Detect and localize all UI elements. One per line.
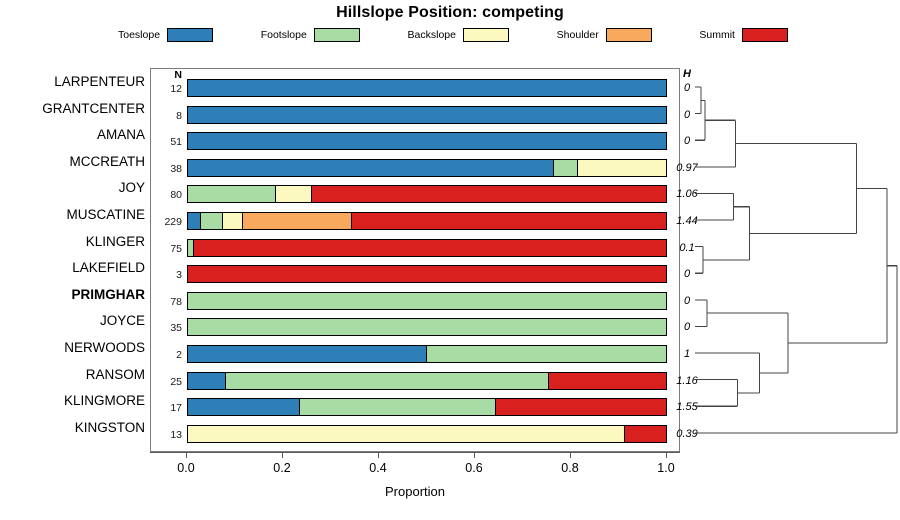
x-axis-tick bbox=[666, 452, 667, 458]
y-axis-label: MUSCATINE bbox=[5, 207, 145, 222]
legend-item[interactable]: Toeslope bbox=[118, 28, 213, 42]
y-axis-labels: LARPENTEURGRANTCENTERAMANAMCCREATHJOYMUS… bbox=[0, 68, 145, 452]
bar-row[interactable] bbox=[187, 185, 667, 203]
bar-row[interactable] bbox=[187, 318, 667, 336]
x-axis-tick-label: 1.0 bbox=[646, 461, 686, 475]
bar-segment-footslope[interactable] bbox=[188, 293, 666, 309]
bar-row[interactable] bbox=[187, 159, 667, 177]
y-axis-label: JOY bbox=[5, 180, 145, 195]
bar-segment-summit[interactable] bbox=[194, 240, 666, 256]
bar-segment-footslope[interactable] bbox=[226, 373, 549, 389]
bar-segment-summit[interactable] bbox=[625, 426, 666, 442]
y-axis-label: GRANTCENTER bbox=[5, 101, 145, 116]
bar-segment-shoulder[interactable] bbox=[243, 213, 352, 229]
chart-title: Hillslope Position: competing bbox=[0, 4, 900, 22]
n-value: 13 bbox=[151, 429, 182, 441]
n-value: 8 bbox=[151, 110, 182, 122]
bar-row[interactable] bbox=[187, 106, 667, 124]
legend-item-label: Footslope bbox=[261, 29, 307, 41]
bar-segment-footslope[interactable] bbox=[188, 186, 276, 202]
x-axis-tick-label: 0.8 bbox=[550, 461, 590, 475]
bars-layer bbox=[187, 69, 667, 451]
bar-row[interactable] bbox=[187, 345, 667, 363]
bar-row[interactable] bbox=[187, 212, 667, 230]
y-axis-label: PRIMGHAR bbox=[5, 287, 145, 302]
stacked-bar[interactable] bbox=[187, 345, 667, 363]
n-value: 78 bbox=[151, 296, 182, 308]
legend-item-label: Summit bbox=[699, 29, 735, 41]
y-axis-label: KINGSTON bbox=[5, 420, 145, 435]
bar-segment-backslope[interactable] bbox=[276, 186, 312, 202]
y-axis-label: RANSOM bbox=[5, 367, 145, 382]
bar-segment-footslope[interactable] bbox=[554, 160, 578, 176]
x-axis-tick bbox=[570, 452, 571, 458]
n-value: 25 bbox=[151, 376, 182, 388]
x-axis-tick-label: 0.6 bbox=[454, 461, 494, 475]
bar-segment-toeslope[interactable] bbox=[188, 107, 666, 123]
bar-row[interactable] bbox=[187, 292, 667, 310]
chart-root: Hillslope Position: competing ToeslopeFo… bbox=[0, 0, 900, 520]
legend-swatch bbox=[314, 28, 360, 42]
n-value: 12 bbox=[151, 83, 182, 95]
bar-segment-toeslope[interactable] bbox=[188, 373, 226, 389]
bar-segment-backslope[interactable] bbox=[223, 213, 244, 229]
stacked-bar[interactable] bbox=[187, 132, 667, 150]
x-axis-title: Proportion bbox=[150, 484, 680, 499]
y-axis-label: LAKEFIELD bbox=[5, 260, 145, 275]
bar-row[interactable] bbox=[187, 239, 667, 257]
stacked-bar[interactable] bbox=[187, 185, 667, 203]
n-value: 2 bbox=[151, 349, 182, 361]
stacked-bar[interactable] bbox=[187, 425, 667, 443]
bar-row[interactable] bbox=[187, 79, 667, 97]
bar-segment-toeslope[interactable] bbox=[188, 133, 666, 149]
bar-segment-backslope[interactable] bbox=[188, 426, 625, 442]
n-value: 35 bbox=[151, 322, 182, 334]
x-axis-tick bbox=[282, 452, 283, 458]
stacked-bar[interactable] bbox=[187, 159, 667, 177]
x-axis-tick-label: 0.0 bbox=[166, 461, 206, 475]
bar-segment-toeslope[interactable] bbox=[188, 213, 201, 229]
x-axis-tick-label: 0.2 bbox=[262, 461, 302, 475]
stacked-bar[interactable] bbox=[187, 265, 667, 283]
plot-panel: N 12851388022975378352251713 bbox=[150, 68, 680, 452]
n-value: 38 bbox=[151, 163, 182, 175]
y-axis-label: AMANA bbox=[5, 127, 145, 142]
bar-row[interactable] bbox=[187, 398, 667, 416]
dendrogram-svg bbox=[690, 64, 900, 456]
bar-row[interactable] bbox=[187, 425, 667, 443]
legend-swatch bbox=[742, 28, 788, 42]
y-axis-label: JOYCE bbox=[5, 313, 145, 328]
y-axis-label: LARPENTEUR bbox=[5, 74, 145, 89]
n-value: 51 bbox=[151, 136, 182, 148]
x-axis-tick-label: 0.4 bbox=[358, 461, 398, 475]
stacked-bar[interactable] bbox=[187, 398, 667, 416]
bar-segment-summit[interactable] bbox=[496, 399, 666, 415]
stacked-bar[interactable] bbox=[187, 106, 667, 124]
bar-segment-summit[interactable] bbox=[312, 186, 666, 202]
bar-segment-toeslope[interactable] bbox=[188, 346, 427, 362]
bar-segment-summit[interactable] bbox=[188, 266, 666, 282]
bar-segment-summit[interactable] bbox=[352, 213, 666, 229]
n-value: 75 bbox=[151, 243, 182, 255]
stacked-bar[interactable] bbox=[187, 212, 667, 230]
stacked-bar[interactable] bbox=[187, 239, 667, 257]
n-value: 229 bbox=[151, 216, 182, 228]
y-axis-label: KLINGER bbox=[5, 234, 145, 249]
y-axis-label: NERWOODS bbox=[5, 340, 145, 355]
legend-item-label: Backslope bbox=[408, 29, 456, 41]
legend: ToeslopeFootslopeBackslopeShoulderSummit bbox=[118, 26, 788, 44]
stacked-bar[interactable] bbox=[187, 318, 667, 336]
bar-segment-toeslope[interactable] bbox=[188, 80, 666, 96]
bar-row[interactable] bbox=[187, 265, 667, 283]
bar-segment-footslope[interactable] bbox=[427, 346, 666, 362]
x-axis-line bbox=[150, 452, 680, 453]
legend-item-label: Toeslope bbox=[118, 29, 160, 41]
stacked-bar[interactable] bbox=[187, 79, 667, 97]
n-value: 17 bbox=[151, 402, 182, 414]
legend-swatch bbox=[463, 28, 509, 42]
bar-segment-toeslope[interactable] bbox=[188, 399, 300, 415]
x-axis-tick bbox=[474, 452, 475, 458]
x-axis-tick bbox=[378, 452, 379, 458]
bar-segment-backslope[interactable] bbox=[578, 160, 666, 176]
legend-item-label: Shoulder bbox=[557, 29, 599, 41]
x-axis: Proportion 0.00.20.40.60.81.0 bbox=[150, 452, 680, 512]
legend-item[interactable]: Summit bbox=[699, 28, 788, 42]
n-value: 3 bbox=[151, 269, 182, 281]
bar-segment-summit[interactable] bbox=[549, 373, 666, 389]
bar-row[interactable] bbox=[187, 132, 667, 150]
legend-swatch bbox=[167, 28, 213, 42]
bar-segment-footslope[interactable] bbox=[188, 319, 666, 335]
y-axis-label: KLINGMORE bbox=[5, 393, 145, 408]
n-value: 80 bbox=[151, 189, 182, 201]
stacked-bar[interactable] bbox=[187, 292, 667, 310]
legend-item[interactable]: Backslope bbox=[408, 28, 509, 42]
x-axis-tick bbox=[186, 452, 187, 458]
legend-item[interactable]: Footslope bbox=[261, 28, 360, 42]
bar-segment-footslope[interactable] bbox=[201, 213, 223, 229]
stacked-bar[interactable] bbox=[187, 372, 667, 390]
y-axis-label: MCCREATH bbox=[5, 154, 145, 169]
bar-segment-footslope[interactable] bbox=[300, 399, 496, 415]
legend-swatch bbox=[606, 28, 652, 42]
bar-row[interactable] bbox=[187, 372, 667, 390]
legend-item[interactable]: Shoulder bbox=[557, 28, 652, 42]
n-column-header: N bbox=[151, 69, 182, 81]
dendrogram bbox=[690, 64, 900, 456]
bar-segment-toeslope[interactable] bbox=[188, 160, 554, 176]
